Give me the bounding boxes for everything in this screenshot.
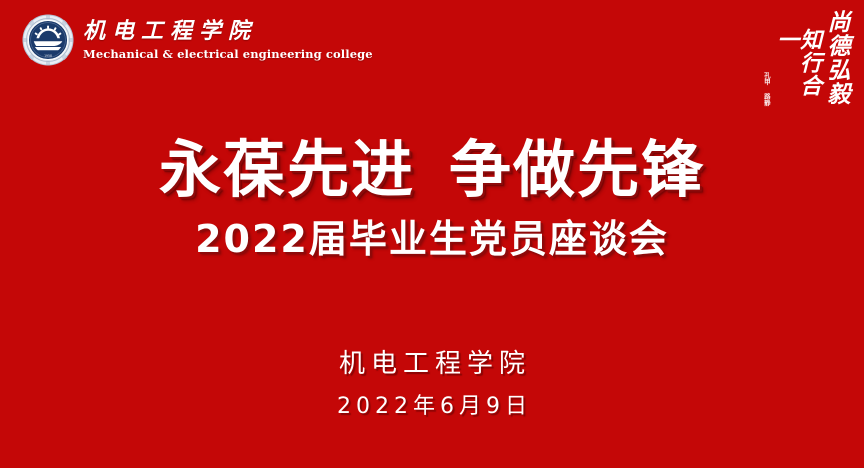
presentation-slide: 1958 机电工程学院 Mechanical & electrical engi… <box>0 0 864 468</box>
college-name-cn: 机电工程学院 <box>83 19 373 44</box>
college-emblem-icon: 1958 <box>22 14 74 66</box>
slide-title-part-two: 争做先锋 <box>449 133 705 206</box>
slide-title-part-one: 永葆先进 <box>159 133 415 206</box>
slide-title: 永葆先进争做先锋 <box>0 137 864 202</box>
brand-lockup: 1958 机电工程学院 Mechanical & electrical engi… <box>22 14 373 66</box>
motto-signature: 孔甲 路静 <box>762 72 769 106</box>
headline-block: 永葆先进争做先锋 2022届毕业生党员座谈会 <box>0 137 864 261</box>
college-name-en: Mechanical & electrical engineering coll… <box>83 47 373 62</box>
motto-column-right: 尚德弘毅 <box>824 10 848 106</box>
motto-column-left: 知行合一 <box>774 28 820 106</box>
event-date: 2022年6月9日 <box>0 393 864 421</box>
organizer-name: 机电工程学院 <box>0 348 864 381</box>
footer-block: 机电工程学院 2022年6月9日 <box>0 348 864 420</box>
svg-text:1958: 1958 <box>44 54 52 58</box>
slide-subtitle: 2022届毕业生党员座谈会 <box>0 219 864 261</box>
calligraphy-motto: 孔甲 路静 知行合一 尚德弘毅 <box>762 6 848 106</box>
brand-text: 机电工程学院 Mechanical & electrical engineeri… <box>83 18 373 61</box>
